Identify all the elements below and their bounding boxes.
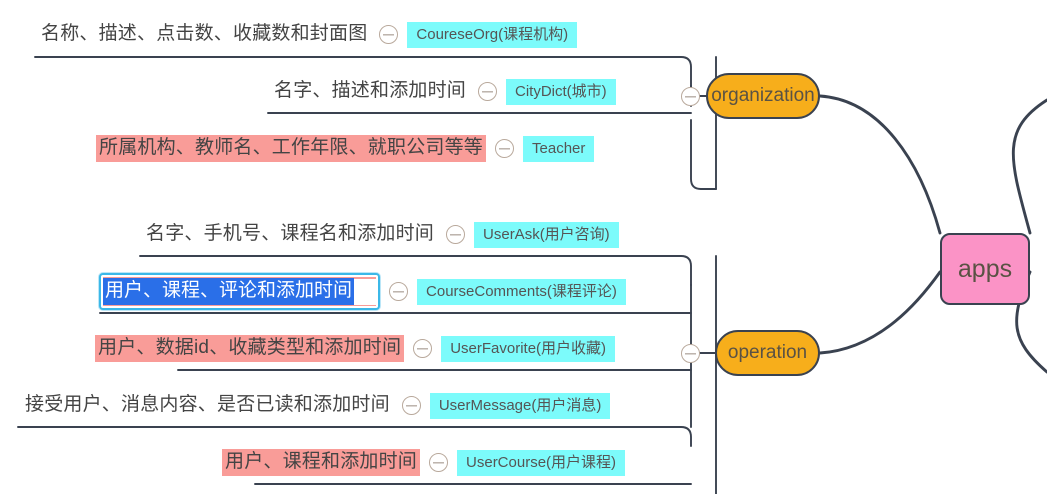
minus-circle-icon[interactable] (446, 225, 465, 244)
row-citydict[interactable]: 名字、描述和添加时间 CityDict(城市) (271, 78, 616, 105)
row-tag[interactable]: CoureseOrg(课程机构) (407, 22, 577, 48)
row-userfavorite[interactable]: 用户、数据id、收藏类型和添加时间 UserFavorite(用户收藏) (95, 335, 615, 362)
row-description[interactable]: 所属机构、教师名、工作年限、就职公司等等 (96, 135, 486, 162)
selected-description-text[interactable]: 用户、课程、评论和添加时间 (103, 278, 354, 305)
branch-collapse-organization[interactable] (681, 87, 700, 106)
root-node-label: apps (958, 255, 1012, 284)
minus-circle-icon[interactable] (402, 396, 421, 415)
branch-node-operation[interactable]: operation (715, 330, 820, 376)
minus-circle-icon[interactable] (429, 453, 448, 472)
row-description[interactable]: 用户、数据id、收藏类型和添加时间 (95, 335, 404, 362)
minus-circle-icon[interactable] (478, 82, 497, 101)
minus-circle-icon[interactable] (379, 25, 398, 44)
branch-node-organization[interactable]: organization (706, 73, 820, 119)
minus-circle-icon[interactable] (681, 87, 700, 106)
row-description[interactable]: 名字、手机号、课程名和添加时间 (143, 221, 437, 248)
branch-node-label: organization (711, 85, 815, 107)
row-tag[interactable]: UserMessage(用户消息) (430, 393, 611, 419)
mindmap-canvas: 名称、描述、点击数、收藏数和封面图 CoureseOrg(课程机构) 名字、描述… (0, 0, 1047, 494)
edit-highlight-backdrop: 用户、课程、评论和添加时间 (103, 277, 376, 306)
row-teacher[interactable]: 所属机构、教师名、工作年限、就职公司等等 Teacher (96, 135, 594, 162)
row-description[interactable]: 名称、描述、点击数、收藏数和封面图 (38, 21, 370, 48)
row-tag[interactable]: CourseComments(课程评论) (417, 279, 626, 305)
row-userask[interactable]: 名字、手机号、课程名和添加时间 UserAsk(用户咨询) (143, 221, 619, 248)
row-tag[interactable]: UserFavorite(用户收藏) (441, 336, 615, 362)
branch-node-label: operation (728, 342, 807, 364)
minus-circle-icon[interactable] (389, 282, 408, 301)
row-description[interactable]: 接受用户、消息内容、是否已读和添加时间 (22, 392, 393, 419)
description-edit-box[interactable]: 用户、课程、评论和添加时间 (99, 273, 380, 310)
row-usercourse[interactable]: 用户、课程和添加时间 UserCourse(用户课程) (222, 449, 625, 476)
minus-circle-icon[interactable] (495, 139, 514, 158)
row-usermessage[interactable]: 接受用户、消息内容、是否已读和添加时间 UserMessage(用户消息) (22, 392, 610, 419)
row-description[interactable]: 名字、描述和添加时间 (271, 78, 469, 105)
minus-circle-icon[interactable] (413, 339, 432, 358)
root-node-apps[interactable]: apps (940, 233, 1030, 305)
row-tag[interactable]: CityDict(城市) (506, 79, 616, 105)
row-coursecomments[interactable]: 用户、课程、评论和添加时间 CourseComments(课程评论) (99, 273, 626, 310)
row-tag[interactable]: UserCourse(用户课程) (457, 450, 625, 476)
row-description[interactable]: 用户、课程和添加时间 (222, 449, 420, 476)
row-tag[interactable]: Teacher (523, 136, 594, 162)
text-caret (354, 279, 376, 305)
row-tag[interactable]: UserAsk(用户咨询) (474, 222, 619, 248)
minus-circle-icon[interactable] (681, 344, 700, 363)
branch-collapse-operation[interactable] (681, 344, 700, 363)
row-courseorg[interactable]: 名称、描述、点击数、收藏数和封面图 CoureseOrg(课程机构) (38, 21, 577, 48)
